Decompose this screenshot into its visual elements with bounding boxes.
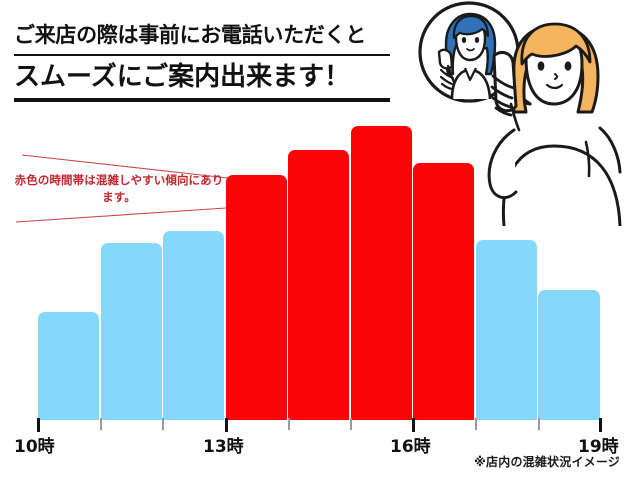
phone-call-illustration	[408, 0, 640, 226]
main-woman-eye-right	[565, 61, 572, 70]
bar-15	[351, 126, 412, 421]
axis-tick-16	[412, 418, 415, 432]
poster-canvas: ご来店の際は事前にお電話いただくと スムーズにご案内出来ます！ 赤色の時間帯は混…	[0, 0, 640, 480]
bar-12	[163, 231, 224, 420]
axis-tick-12	[162, 418, 164, 430]
headline-rule-thick	[14, 98, 390, 102]
axis-tick-19	[599, 418, 602, 432]
main-woman-figure	[489, 24, 620, 226]
axis-tick-18	[538, 418, 540, 430]
headline-rule-thin	[14, 54, 390, 56]
axis-label-10: 10時	[14, 432, 55, 457]
axis-tick-10	[37, 418, 40, 432]
footnote-text: ※店内の混雑状況イメージ	[474, 453, 620, 470]
axis-tick-13	[225, 418, 228, 432]
axis-tick-15	[350, 418, 352, 430]
bar-10	[38, 312, 99, 421]
bubble-woman-eye-right	[475, 37, 479, 43]
axis-label-16: 16時	[390, 432, 431, 457]
axis-tick-17	[475, 418, 477, 430]
axis-label-13: 13時	[203, 432, 244, 457]
bar-17	[476, 240, 537, 420]
bar-13	[226, 175, 287, 420]
bubble-woman-eye-left	[462, 37, 466, 43]
main-woman-eye-left	[538, 61, 545, 70]
headline-line-2: スムーズにご案内出来ます！	[14, 58, 392, 96]
axis-tick-11	[100, 418, 102, 430]
bar-11	[101, 243, 162, 420]
headline-block: ご来店の際は事前にお電話いただくと スムーズにご案内出来ます！	[14, 20, 392, 102]
headline-line-1: ご来店の際は事前にお電話いただくと	[14, 20, 392, 50]
axis-tick-14	[288, 418, 290, 430]
bar-14	[288, 150, 349, 420]
bar-18	[538, 290, 600, 420]
illustration-svg	[408, 0, 640, 226]
